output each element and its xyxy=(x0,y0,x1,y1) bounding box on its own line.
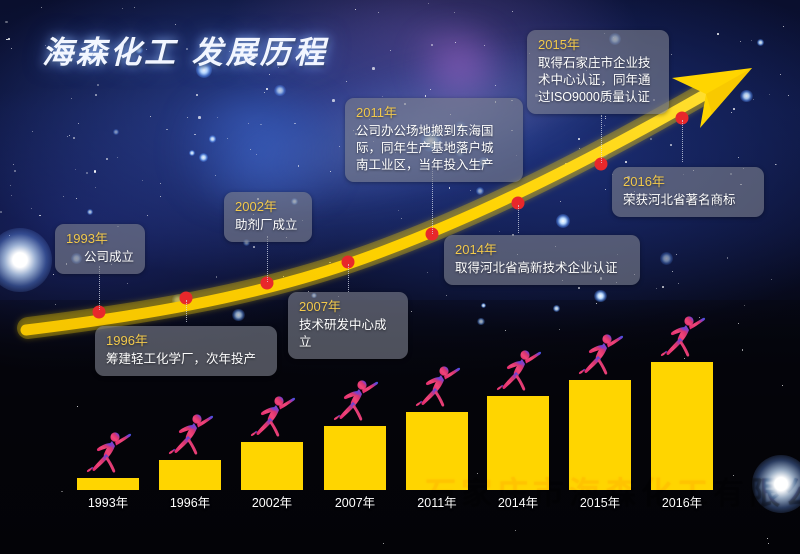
milestone-year-1993: 1993年 xyxy=(66,230,134,248)
milestone-desc-2016: 荣获河北省著名商标 xyxy=(623,192,753,209)
runner-icon-2015 xyxy=(574,332,626,378)
milestone-desc-1993: 公司成立 xyxy=(66,249,134,266)
leader-line-1996 xyxy=(186,300,187,322)
milestone-desc-2011-line3: 南工业区，当年投入生产 xyxy=(356,157,512,174)
milestone-desc-2015-line2: 术中心认证，同年通 xyxy=(538,72,658,89)
axis-label-2007: 2007年 xyxy=(315,496,395,511)
leader-line-2015 xyxy=(601,115,602,163)
axis-label-1993: 1993年 xyxy=(68,496,148,511)
milestone-callout-2014[interactable]: 2014年 取得河北省高新技术企业认证 xyxy=(444,235,640,285)
milestone-desc-2014: 取得河北省高新技术企业认证 xyxy=(455,260,629,277)
bar-2002 xyxy=(241,442,303,490)
milestone-callout-1993[interactable]: 1993年 公司成立 xyxy=(55,224,145,274)
bar-1996 xyxy=(159,460,221,490)
milestone-year-1996: 1996年 xyxy=(106,332,266,350)
bar-2007 xyxy=(324,426,386,490)
milestone-desc-2015-line3: 过ISO9000质量认证 xyxy=(538,89,658,106)
bar-1993 xyxy=(77,478,139,490)
milestone-desc-2011-line2: 际，同年生产基地落户城 xyxy=(356,140,512,157)
milestone-year-2014: 2014年 xyxy=(455,241,629,259)
milestone-year-2016: 2016年 xyxy=(623,173,753,191)
milestone-desc-1996: 筹建轻工化学厂，次年投产 xyxy=(106,351,266,368)
milestone-callout-2011[interactable]: 2011年 公司办公场地搬到东海国 际，同年生产基地落户城 南工业区，当年投入生… xyxy=(345,98,523,182)
runner-icon-1993 xyxy=(82,430,134,476)
milestone-callout-2015[interactable]: 2015年 取得石家庄市企业技 术中心认证，同年通 过ISO9000质量认证 xyxy=(527,30,669,114)
milestone-callout-2016[interactable]: 2016年 荣获河北省著名商标 xyxy=(612,167,764,217)
runner-icon-2011 xyxy=(411,364,463,410)
milestone-year-2015: 2015年 xyxy=(538,36,658,54)
milestone-desc-2007: 技术研发中心成立 xyxy=(299,317,397,351)
milestone-desc-2002: 助剂厂成立 xyxy=(235,217,301,234)
infographic-canvas: 海森化工 发展历程 xyxy=(0,0,800,554)
milestone-year-2007: 2007年 xyxy=(299,298,397,316)
runner-icon-2016 xyxy=(656,314,708,360)
milestone-year-2002: 2002年 xyxy=(235,198,301,216)
leader-line-2016 xyxy=(682,120,683,162)
axis-label-2002: 2002年 xyxy=(232,496,312,511)
milestone-callout-2002[interactable]: 2002年 助剂厂成立 xyxy=(224,192,312,242)
watermark-text: 石家庄市海森化工有限公司 xyxy=(425,468,800,513)
milestone-callout-1996[interactable]: 1996年 筹建轻工化学厂，次年投产 xyxy=(95,326,277,376)
milestone-year-2011: 2011年 xyxy=(356,104,512,122)
milestone-desc-2011-line1: 公司办公场地搬到东海国 xyxy=(356,123,512,140)
milestone-callout-2007[interactable]: 2007年 技术研发中心成立 xyxy=(288,292,408,359)
runner-icon-1996 xyxy=(164,412,216,458)
milestone-desc-2015-line1: 取得石家庄市企业技 xyxy=(538,55,658,72)
leader-line-2002 xyxy=(267,236,268,282)
runner-icon-2007 xyxy=(329,378,381,424)
runner-icon-2014 xyxy=(492,348,544,394)
leader-line-2007 xyxy=(348,264,349,292)
runner-icon-2002 xyxy=(246,394,298,440)
axis-label-1996: 1996年 xyxy=(150,496,230,511)
leader-line-2014 xyxy=(518,205,519,233)
